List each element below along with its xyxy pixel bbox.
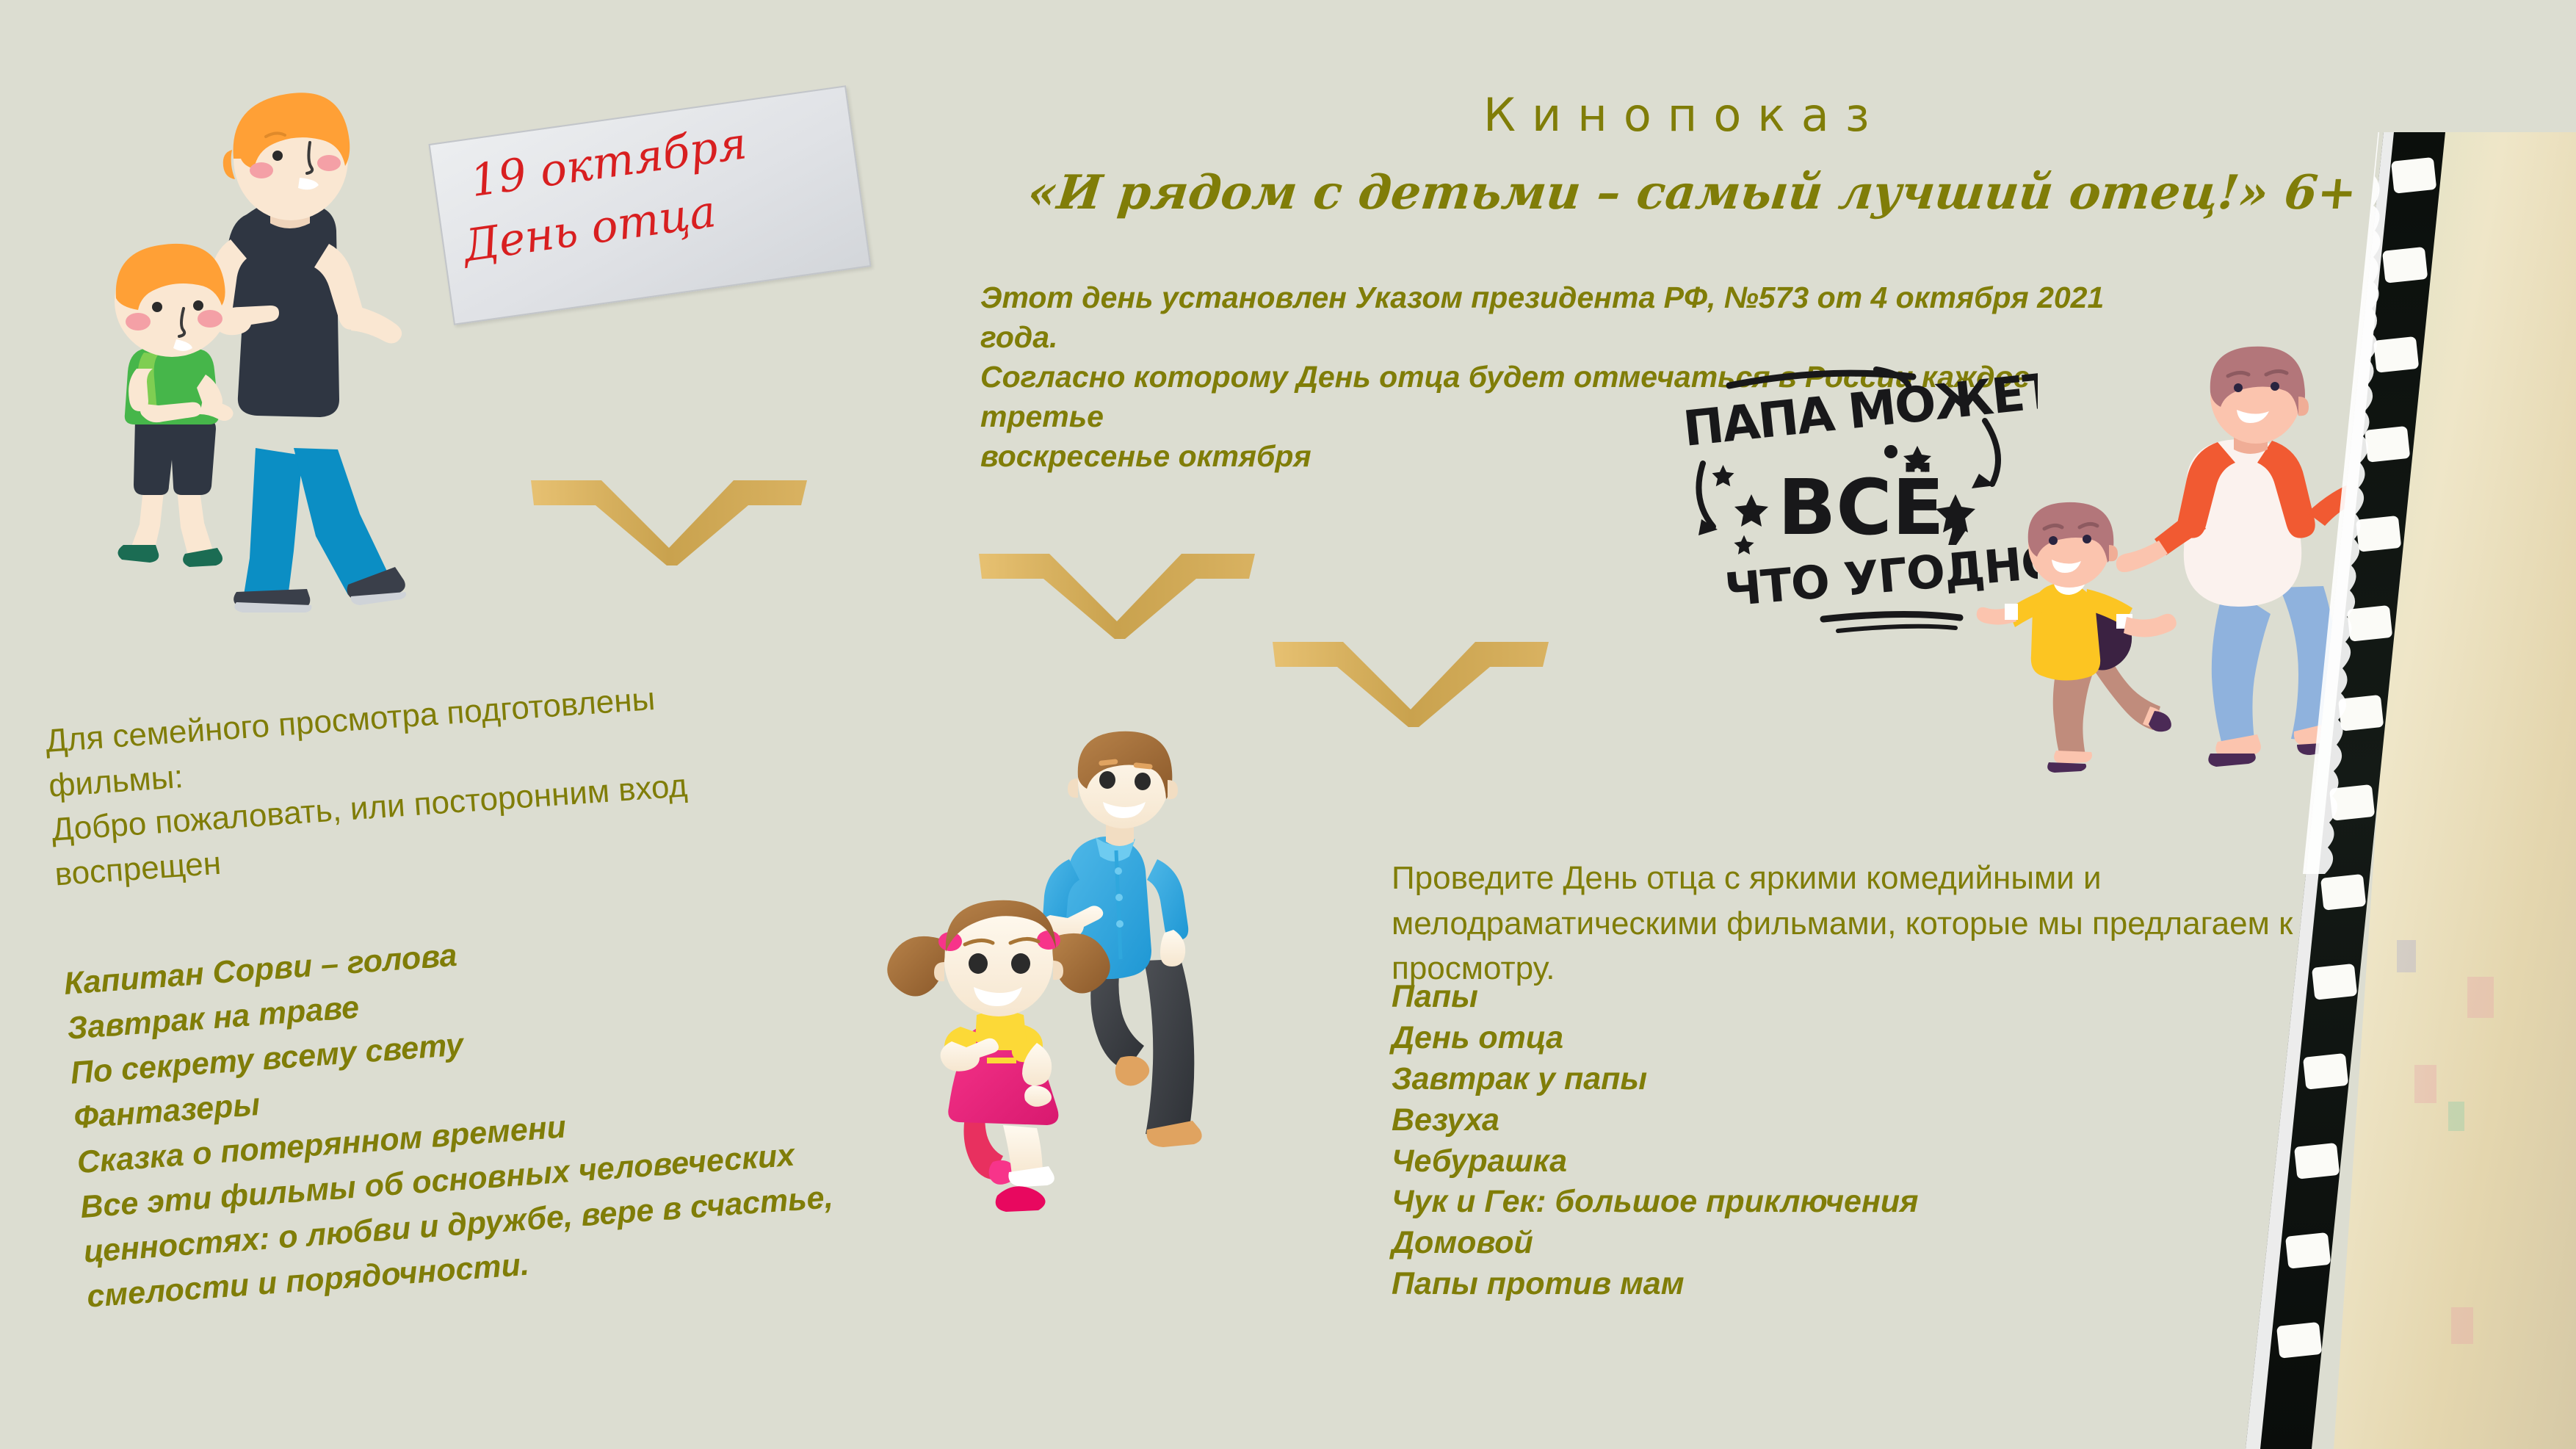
father-son-svg bbox=[73, 88, 485, 617]
poster-canvas: 19 октября День отца Кинопоказ «И рядом … bbox=[0, 0, 2576, 1449]
date-placard: 19 октября День отца bbox=[428, 85, 871, 325]
chevron-ornament-3 bbox=[1267, 632, 1560, 727]
film-strip-decoration bbox=[2231, 132, 2576, 1449]
left-intro-paragraph: Для семейного просмотра подготовлены фил… bbox=[44, 665, 833, 897]
film-strip-svg bbox=[2231, 132, 2576, 1449]
illustration-father-and-son bbox=[73, 88, 485, 617]
decree-line: Этот день установлен Указом президента Р… bbox=[980, 278, 2126, 357]
chevron-ornament-1 bbox=[525, 470, 819, 565]
page-title: «И рядом с детьми – самый лучший отец!» … bbox=[1025, 165, 2359, 220]
chevron-icon bbox=[525, 470, 819, 565]
page-kicker: Кинопоказ bbox=[1483, 88, 1886, 142]
chevron-icon bbox=[973, 543, 1267, 639]
sticker-line-2: ВСЁ, bbox=[1778, 463, 1973, 552]
chevron-ornament-2 bbox=[973, 543, 1267, 639]
chevron-icon bbox=[1267, 632, 1560, 727]
left-film-list: Капитан Сорви – голова Завтрак на траве … bbox=[62, 899, 953, 1320]
